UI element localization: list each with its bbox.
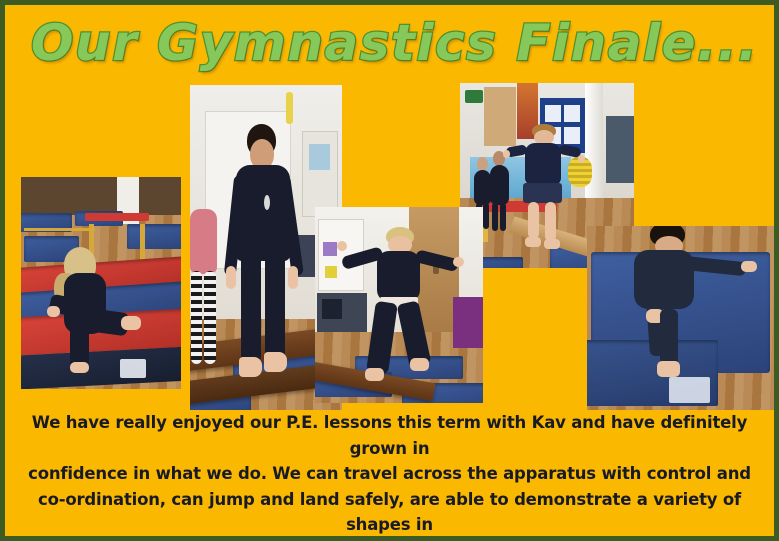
body-line: We have really enjoyed our P.E. lessons … [19,410,760,461]
body-line: confidence in what we do. We can travel … [19,461,760,487]
photo-girl-on-mats [21,177,181,389]
photo-child-straddle [587,226,774,410]
photo-collage [5,65,774,410]
body-line: our movements, including straight, tucke… [19,538,760,541]
gymnastics-poster: Our Gymnastics Finale... [0,0,779,541]
body-paragraph: We have really enjoyed our P.E. lessons … [19,410,760,541]
body-line: co-ordination, can jump and land safely,… [19,487,760,538]
photo-child-jumping [315,207,483,403]
